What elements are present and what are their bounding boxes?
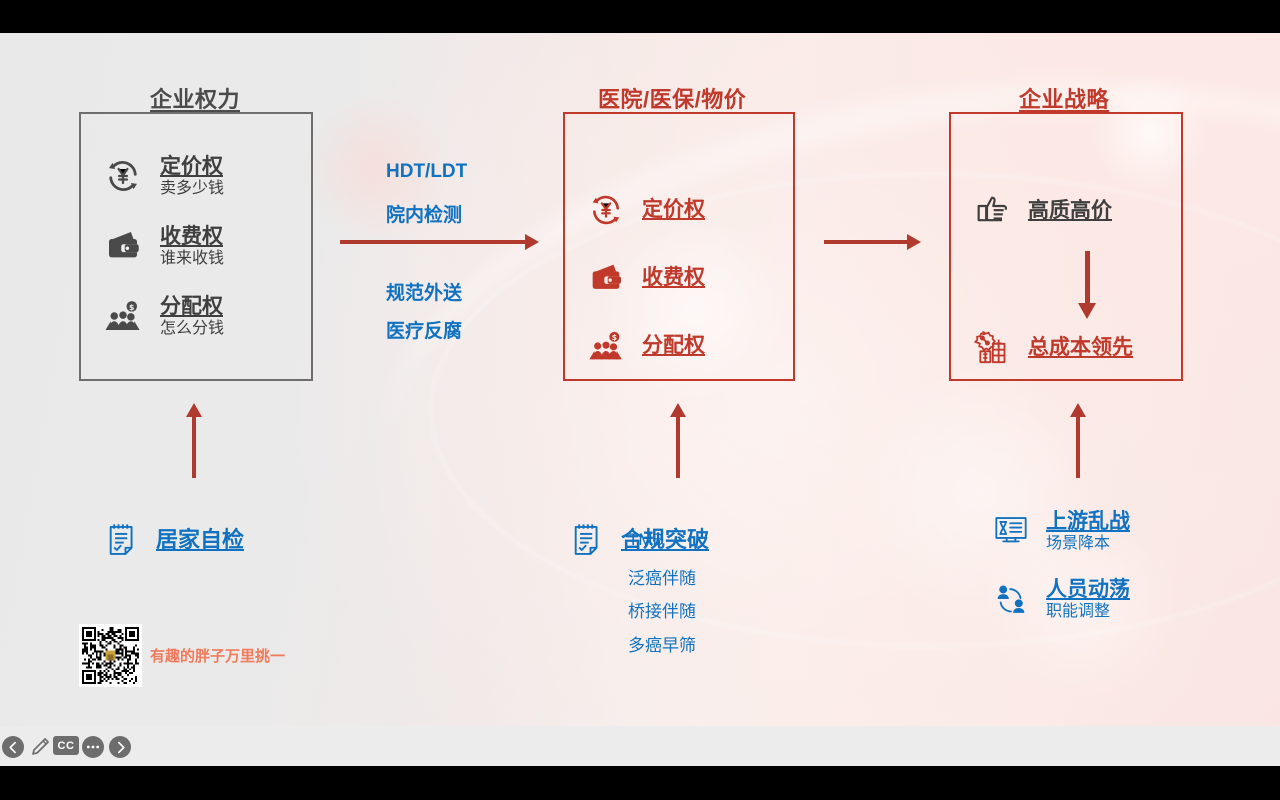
- power-item-pricing-title: 定价权: [160, 155, 224, 179]
- ellipsis-icon: [82, 736, 104, 758]
- strategy-item-cost-leadership-title: 总成本领先: [1028, 336, 1133, 360]
- bottom-group-upstream-chaos[interactable]: 上游乱战 场景降本: [992, 510, 1130, 553]
- bottom-group-staff-turmoil-sub: 职能调整: [1046, 602, 1130, 621]
- svg-text:$: $: [612, 333, 617, 342]
- wallet-icon: [586, 258, 626, 298]
- bottom-group-upstream-chaos-sub: 场景降本: [1046, 534, 1130, 553]
- presentation-toolbar: [0, 726, 1280, 766]
- wallet-icon: [102, 225, 144, 267]
- uparrow-to-hospital-box: [676, 416, 680, 478]
- bottom-group-staff-turmoil[interactable]: 人员动荡 职能调整: [992, 578, 1130, 621]
- hosp-item-allocation[interactable]: $ 分配权: [586, 326, 705, 366]
- flow-arrow-left-to-middle: [340, 240, 526, 244]
- presentation-slide: 企业权力 定价权 卖多少钱: [0, 33, 1280, 766]
- qr-code-canvas: [82, 627, 139, 684]
- compliance-bullet-pan-cancer: 泛癌伴随: [628, 564, 696, 589]
- bottom-group-staff-turmoil-title: 人员动荡: [1046, 578, 1130, 602]
- previous-slide-button[interactable]: [2, 736, 24, 758]
- pen-icon: [29, 736, 51, 758]
- people-money-icon: $: [102, 295, 144, 337]
- middle-label-in-hospital-testing: 院内检测: [386, 200, 462, 227]
- qr-code[interactable]: [79, 624, 142, 687]
- cc-icon: CC: [53, 736, 79, 755]
- power-item-charging-sub: 谁来收钱: [160, 249, 224, 268]
- hosp-item-charging-title: 收费权: [642, 266, 705, 290]
- arrow-right-icon: [109, 736, 131, 758]
- uparrow-to-enterprise-power: [192, 416, 196, 478]
- hosp-item-pricing[interactable]: 定价权: [586, 190, 705, 230]
- strategy-item-premium[interactable]: 高质高价: [972, 191, 1112, 231]
- yen-cycle-icon: [102, 155, 144, 197]
- more-options-button[interactable]: [82, 736, 104, 758]
- people-swap-icon: [992, 580, 1030, 618]
- flow-arrow-middle-to-right: [824, 240, 908, 244]
- monitor-dna-icon: [992, 512, 1030, 550]
- checklist-icon: [569, 520, 605, 560]
- power-item-pricing-sub: 卖多少钱: [160, 179, 224, 198]
- middle-label-standard-outsourcing: 规范外送: [386, 278, 462, 305]
- compliance-bullet-bridging: 桥接伴随: [628, 597, 696, 622]
- bottom-group-home-self-test-title: 居家自检: [156, 528, 244, 553]
- power-item-allocation-sub: 怎么分钱: [160, 319, 224, 338]
- hosp-item-charging[interactable]: 收费权: [586, 258, 705, 298]
- power-item-charging[interactable]: 收费权 谁来收钱: [102, 225, 224, 268]
- bottom-group-home-self-test-text: 居家自检: [156, 528, 244, 553]
- checklist-icon: [104, 520, 140, 560]
- power-item-charging-text: 收费权 谁来收钱: [160, 225, 224, 268]
- column-title-enterprise-strategy: 企业战略: [1019, 82, 1109, 114]
- next-slide-button[interactable]: [109, 736, 131, 758]
- letterbox-bottom: [0, 766, 1280, 800]
- thumbs-up-icon: [972, 191, 1012, 231]
- bottom-group-staff-turmoil-text: 人员动荡 职能调整: [1046, 578, 1130, 621]
- power-item-allocation-text: 分配权 怎么分钱: [160, 295, 224, 338]
- svg-text:$: $: [129, 303, 134, 312]
- pen-tool-button[interactable]: [29, 736, 51, 758]
- middle-label-anti-corruption: 医疗反腐: [386, 316, 462, 343]
- strategy-item-premium-title: 高质高价: [1028, 199, 1112, 223]
- power-item-charging-title: 收费权: [160, 225, 224, 249]
- screen: 企业权力 定价权 卖多少钱: [0, 0, 1280, 800]
- hosp-item-pricing-title: 定价权: [642, 198, 705, 222]
- power-item-allocation-title: 分配权: [160, 295, 224, 319]
- bottom-group-upstream-chaos-title: 上游乱战: [1046, 510, 1130, 534]
- hosp-item-allocation-title: 分配权: [642, 334, 705, 358]
- compliance-bullet-early-screen: 多癌早筛: [628, 631, 696, 656]
- middle-label-hdt-ldt: HDT/LDT: [386, 161, 467, 183]
- strategy-down-arrow: [1085, 251, 1090, 304]
- discount-hospital-icon: [972, 328, 1012, 368]
- captions-button[interactable]: CC: [53, 736, 79, 758]
- power-item-pricing[interactable]: 定价权 卖多少钱: [102, 155, 224, 198]
- uparrow-to-strategy-box: [1076, 416, 1080, 478]
- bottom-group-home-self-test[interactable]: 居家自检: [104, 520, 244, 560]
- column-title-hospital-insurance-price: 医院/医保/物价: [598, 82, 746, 114]
- power-item-allocation[interactable]: $ 分配权 怎么分钱: [102, 295, 224, 338]
- qr-caption: 有趣的胖子万里挑一: [150, 645, 285, 666]
- power-item-pricing-text: 定价权 卖多少钱: [160, 155, 224, 198]
- bottom-group-upstream-chaos-text: 上游乱战 场景降本: [1046, 510, 1130, 553]
- yen-cycle-icon: [586, 190, 626, 230]
- arrow-left-icon: [2, 736, 24, 758]
- people-money-icon: $: [586, 326, 626, 366]
- letterbox-top: [0, 0, 1280, 33]
- column-title-enterprise-power: 企业权力: [150, 82, 240, 114]
- strategy-item-cost-leadership[interactable]: 总成本领先: [972, 328, 1133, 368]
- compliance-bullet-tmb: TMB: [628, 530, 664, 550]
